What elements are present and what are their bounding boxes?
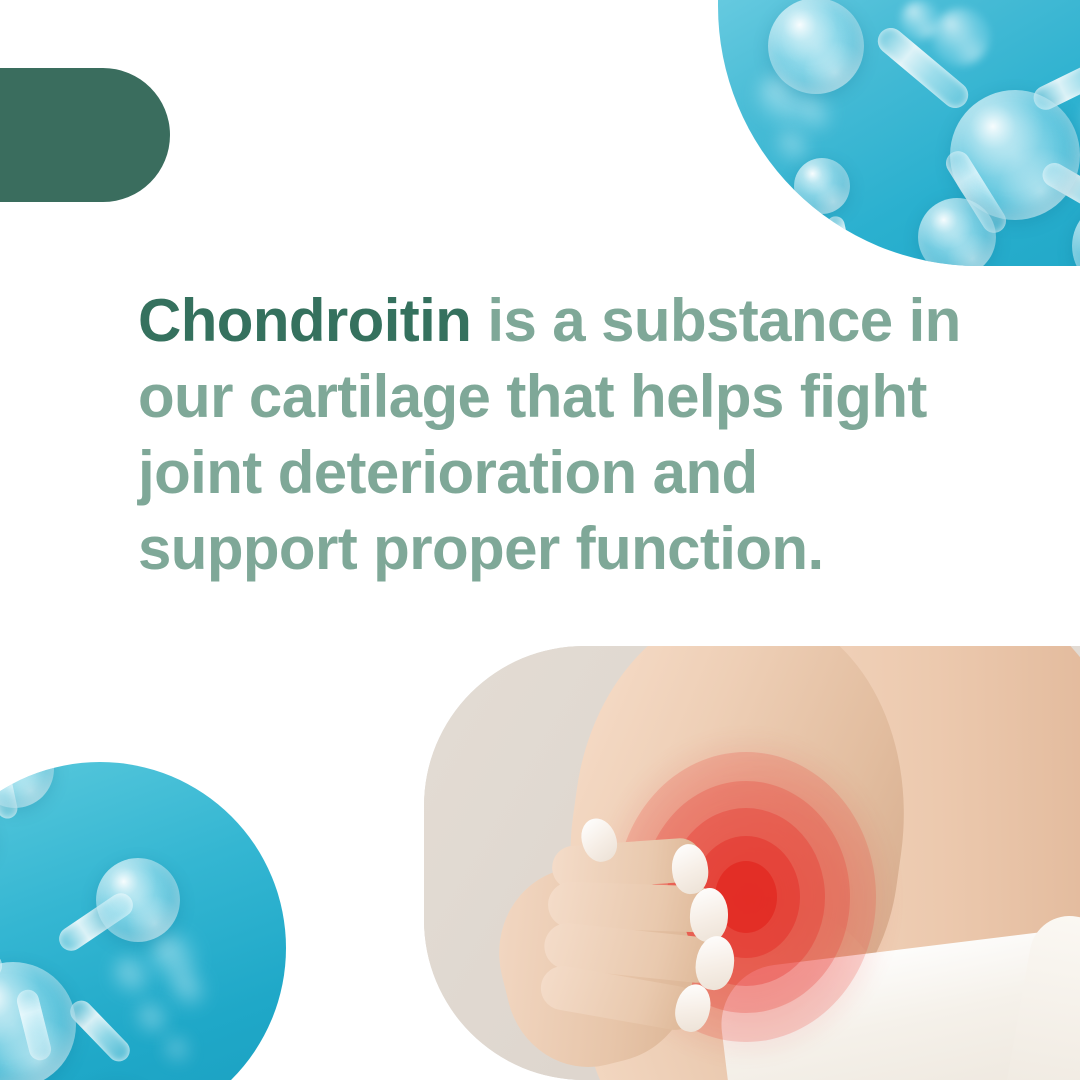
molecule-atom	[918, 198, 996, 266]
molecule-illustration-top-right	[718, 0, 1080, 266]
molecule-bubble-bg	[778, 130, 808, 160]
molecule-bubble-bg	[166, 1038, 188, 1060]
molecule-atom	[794, 158, 850, 214]
joint-pain-photo	[424, 646, 1080, 1080]
molecule-illustration-bottom-left	[0, 762, 286, 1080]
molecule-atom	[96, 858, 180, 942]
molecule-bond	[825, 215, 853, 266]
molecule-art-top	[718, 0, 1080, 266]
molecule-bubble-bg	[796, 95, 830, 129]
molecule-atom	[900, 0, 940, 40]
molecule-bond	[66, 996, 135, 1066]
molecule-bubble-bg	[138, 1004, 166, 1032]
molecule-atom	[1072, 200, 1080, 266]
molecule-atom	[768, 0, 864, 94]
molecule-atom	[0, 762, 54, 808]
molecule-bubble-bg	[172, 972, 204, 1004]
molecule-bubble-bg	[114, 958, 148, 992]
headline-lead-word: Chondroitin	[138, 287, 471, 354]
infographic-canvas: Chondroitin is a substance in our cartil…	[0, 0, 1080, 1080]
molecule-atom-center	[0, 962, 76, 1080]
molecule-bubble-bg	[932, 8, 990, 66]
top-left-green-pill	[0, 68, 170, 202]
headline: Chondroitin is a substance in our cartil…	[138, 283, 968, 587]
